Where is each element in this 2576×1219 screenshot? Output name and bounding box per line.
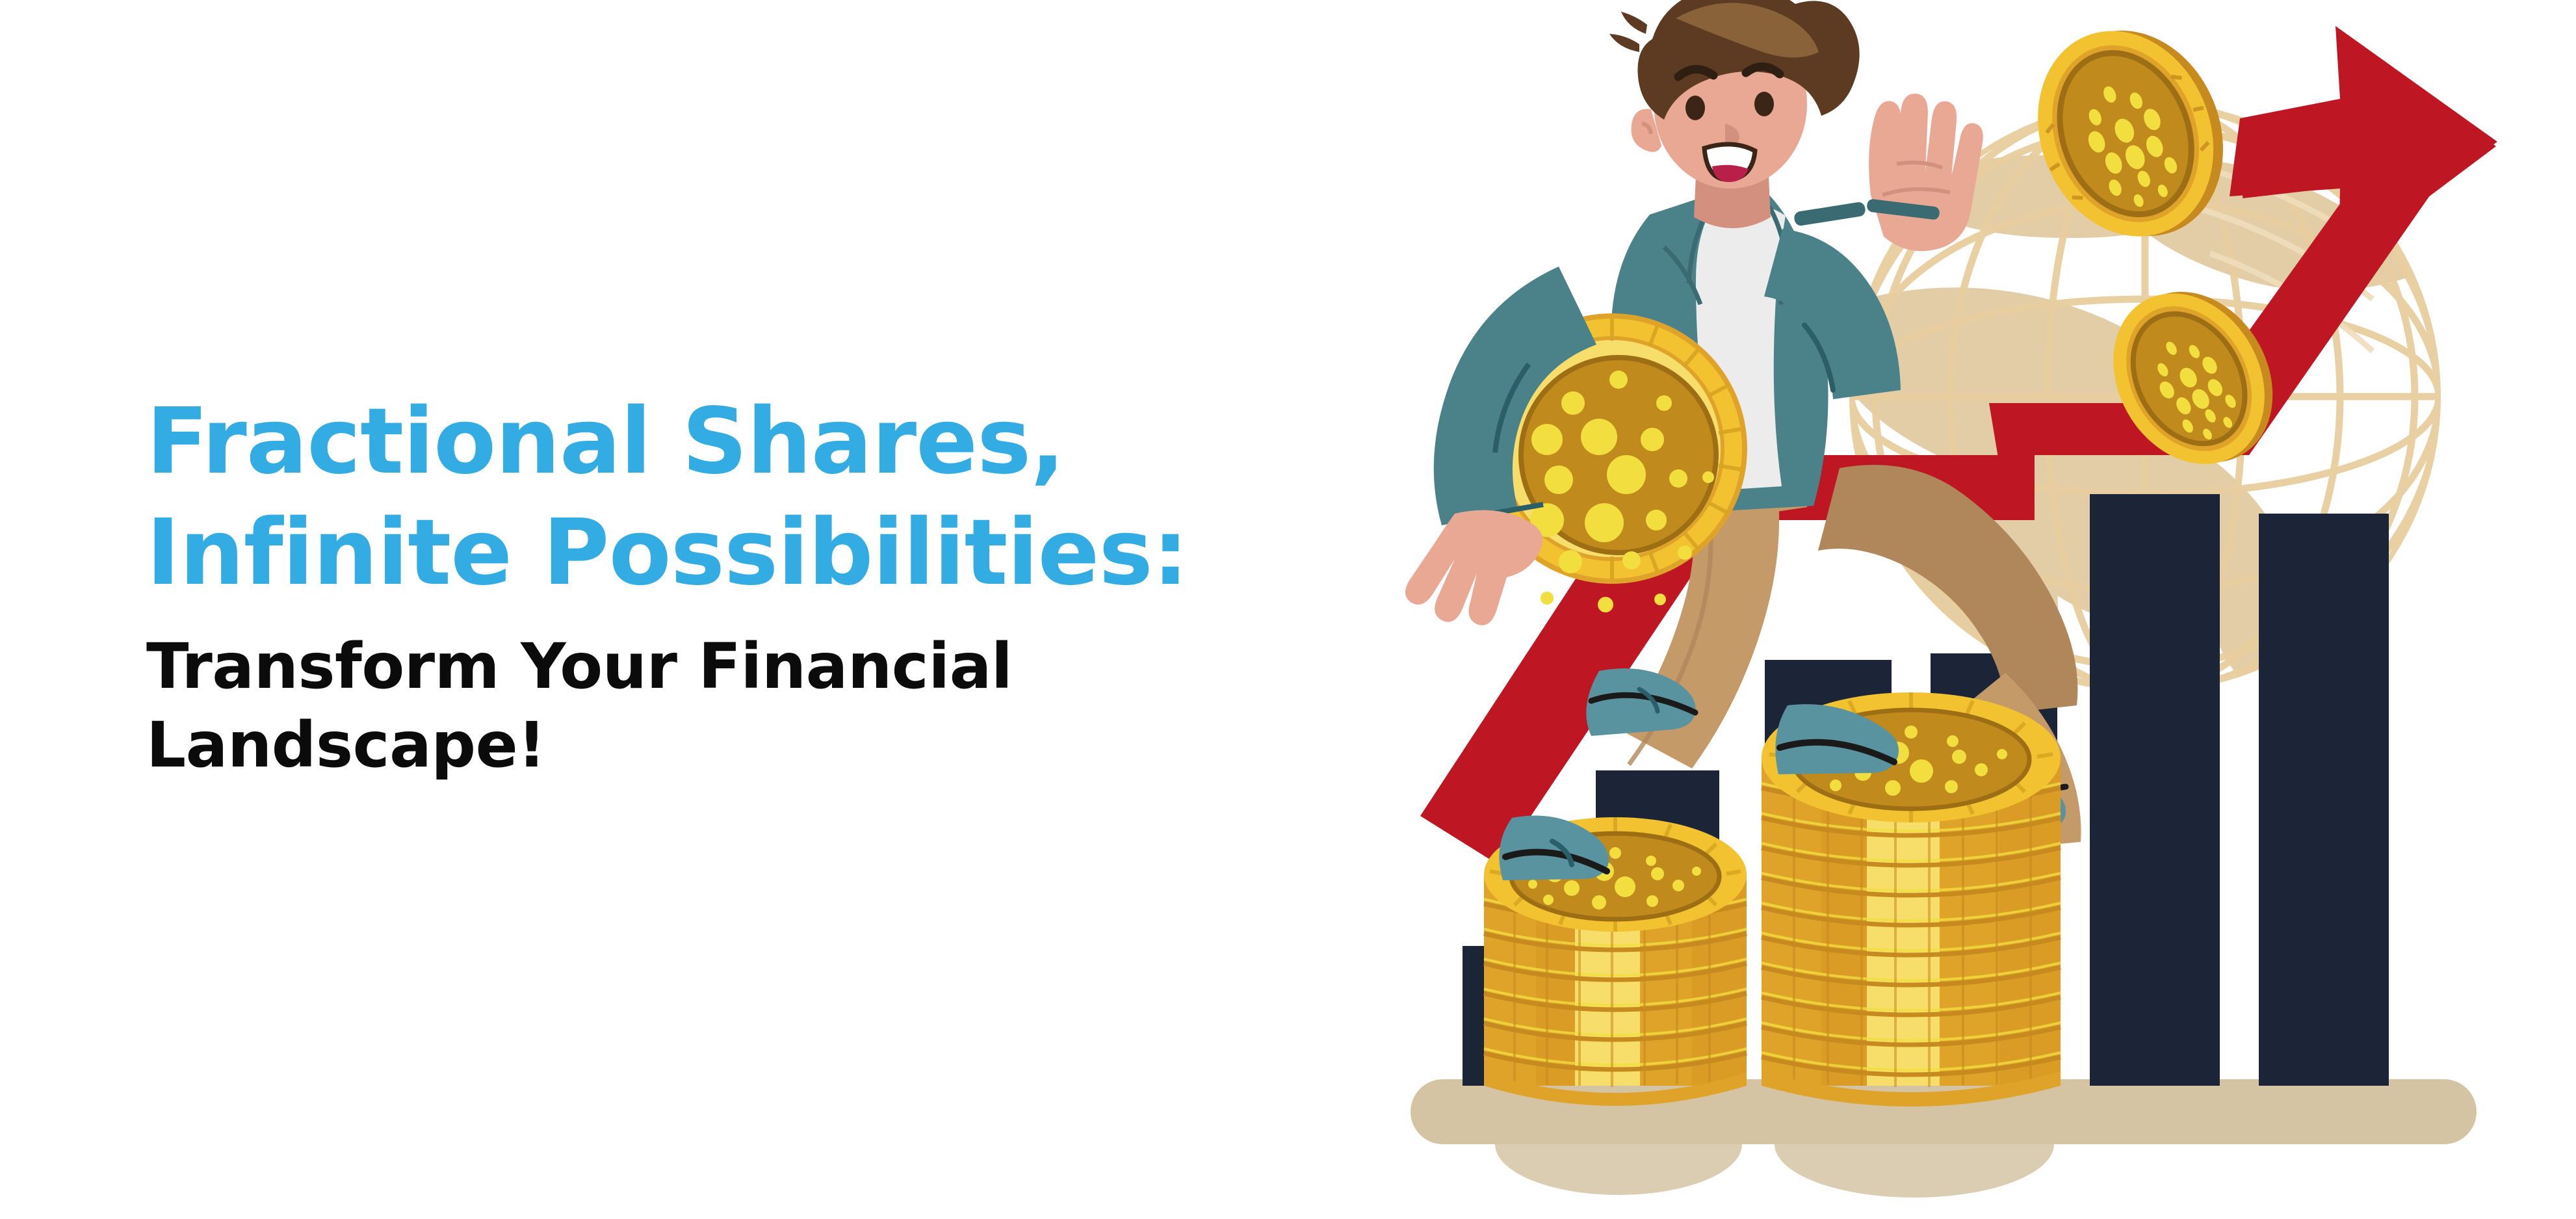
headline-line-2: Infinite Possibilities: — [146, 498, 1446, 609]
hero-copy-block: Fractional Shares, Infinite Possibilitie… — [146, 387, 1446, 785]
headline: Fractional Shares, Infinite Possibilitie… — [146, 387, 1446, 609]
bar-6 — [2259, 514, 2389, 1086]
head — [1609, 0, 1860, 228]
cuff-raised — [1793, 202, 1866, 227]
subheadline-line-2: Landscape! — [146, 706, 796, 785]
hand-holding — [1405, 510, 1542, 625]
hand-waving — [1869, 94, 1983, 251]
subheadline-line-1: Transform Your Financial — [146, 627, 796, 706]
subheadline: Transform Your Financial Landscape! — [146, 627, 796, 785]
hero-illustration — [1385, 0, 2576, 1219]
hero-banner: Fractional Shares, Infinite Possibilitie… — [0, 0, 2576, 1219]
bar-5 — [2090, 494, 2220, 1086]
headline-line-1: Fractional Shares, — [146, 387, 1446, 498]
